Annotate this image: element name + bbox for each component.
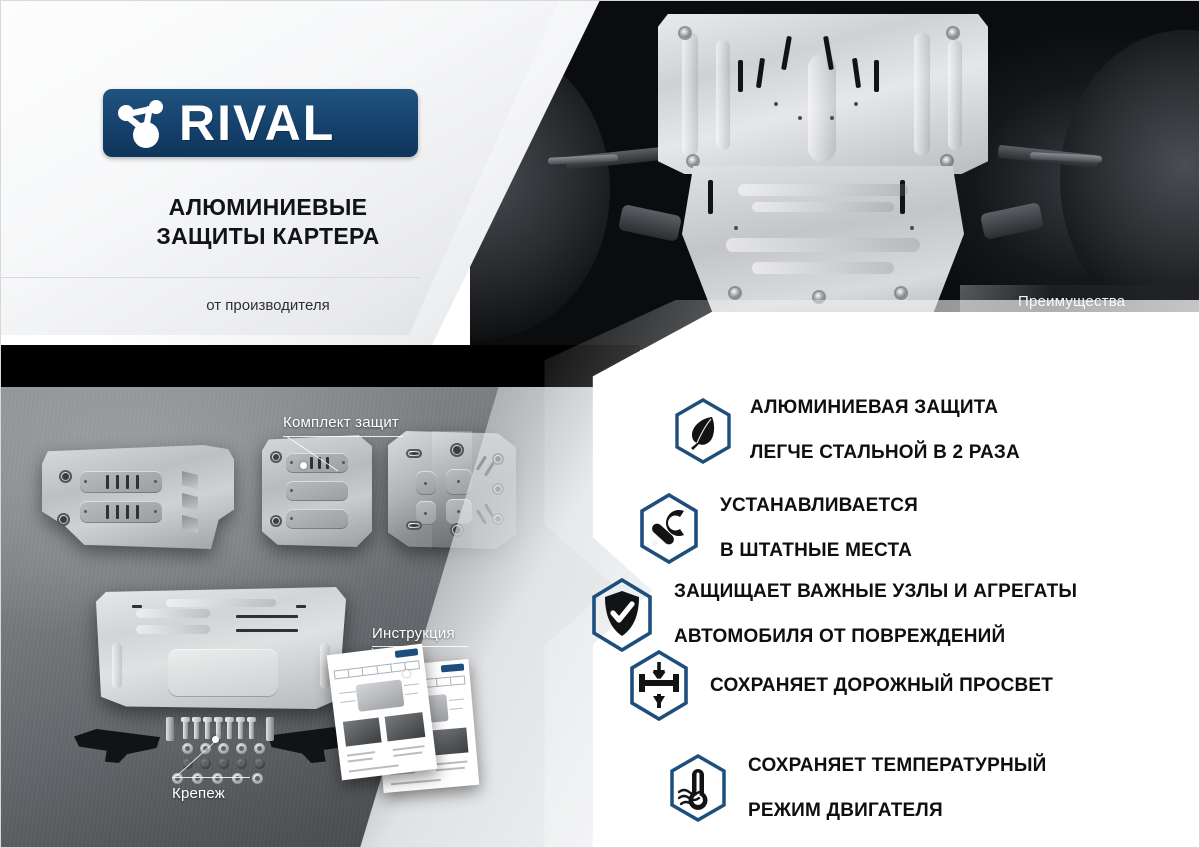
fastener-set bbox=[166, 717, 278, 783]
callout-fasteners: Крепеж bbox=[172, 785, 225, 802]
page-subtitle: от производителя bbox=[103, 297, 433, 314]
callout-fasteners-label: Крепеж bbox=[172, 785, 225, 802]
callout-kit-dot bbox=[300, 462, 307, 469]
advantage-item-5-line1: СОХРАНЯЕТ ТЕМПЕРАТУРНЫЙ bbox=[748, 755, 1047, 777]
skid-plate-product-large bbox=[96, 587, 346, 709]
advantage-item-4-line1: СОХРАНЯЕТ ДОРОЖНЫЙ ПРОСВЕТ bbox=[710, 675, 1053, 697]
callout-kit: Комплект защит bbox=[283, 414, 399, 431]
instruction-sheet-front bbox=[327, 644, 438, 781]
advantage-item-2-line1: УСТАНАВЛИВАЕТСЯ bbox=[720, 495, 918, 517]
advantage-item-1-text: АЛЮМИНИЕВАЯ ЗАЩИТА ЛЕГЧЕ СТАЛЬНОЙ В 2 РА… bbox=[750, 375, 1020, 487]
page-title: АЛЮМИНИЕВЫЕ ЗАЩИТЫ КАРТЕРА bbox=[103, 193, 433, 251]
hero-divider bbox=[0, 277, 420, 278]
wrench-icon bbox=[634, 491, 704, 567]
rival-logo: RIVAL bbox=[103, 89, 418, 157]
callout-kit-label: Комплект защит bbox=[283, 414, 399, 431]
skid-plate-product-1 bbox=[42, 445, 234, 549]
car-underbody-skid-plate-photo: Преимущества bbox=[470, 0, 1200, 350]
advantage-item-1-line2: ЛЕГЧЕ СТАЛЬНОЙ В 2 РАЗА bbox=[750, 442, 1020, 464]
poster-root: Преимущества RIVAL АЛЮМИНИЕВЫЕ bbox=[0, 0, 1200, 848]
rival-wordmark: RIVAL bbox=[179, 98, 335, 148]
advantage-item-3-line2: АВТОМОБИЛЯ ОТ ПОВРЕЖДЕНИЙ bbox=[674, 626, 1077, 648]
advantage-item-5: СОХРАНЯЕТ ТЕМПЕРАТУРНЫЙ РЕЖИМ ДВИГАТЕЛЯ bbox=[664, 733, 1047, 845]
ground-clearance-icon bbox=[624, 648, 694, 724]
callout-instruction-dot bbox=[403, 670, 410, 677]
advantage-item-3-line1: ЗАЩИЩАЕТ ВАЖНЫЕ УЗЛЫ И АГРЕГАТЫ bbox=[674, 581, 1077, 603]
page-title-line1: АЛЮМИНИЕВЫЕ bbox=[103, 193, 433, 222]
advantage-item-1: АЛЮМИНИЕВАЯ ЗАЩИТА ЛЕГЧЕ СТАЛЬНОЙ В 2 РА… bbox=[672, 375, 1020, 487]
skid-plate-upper-section bbox=[658, 14, 988, 174]
advantage-item-4-text: СОХРАНЯЕТ ДОРОЖНЫЙ ПРОСВЕТ bbox=[710, 652, 1053, 719]
advantage-item-5-text: СОХРАНЯЕТ ТЕМПЕРАТУРНЫЙ РЕЖИМ ДВИГАТЕЛЯ bbox=[748, 733, 1047, 845]
page-title-line2: ЗАЩИТЫ КАРТЕРА bbox=[103, 222, 433, 251]
thermometer-icon bbox=[664, 752, 732, 826]
shield-check-icon bbox=[586, 576, 658, 654]
callout-fasteners-dot bbox=[212, 736, 219, 743]
leaf-icon bbox=[672, 397, 734, 465]
skid-plate-product-2 bbox=[262, 435, 372, 547]
callout-instruction-label: Инструкция bbox=[372, 625, 455, 642]
advantage-item-5-line2: РЕЖИМ ДВИГАТЕЛЯ bbox=[748, 800, 1047, 822]
callout-instruction: Инструкция bbox=[372, 625, 455, 642]
advantage-item-4: СОХРАНЯЕТ ДОРОЖНЫЙ ПРОСВЕТ bbox=[624, 648, 1053, 724]
advantage-item-1-line1: АЛЮМИНИЕВАЯ ЗАЩИТА bbox=[750, 397, 1020, 419]
separator-band bbox=[0, 345, 640, 387]
skid-plate-on-car bbox=[658, 14, 988, 334]
molecule-icon bbox=[115, 95, 177, 151]
